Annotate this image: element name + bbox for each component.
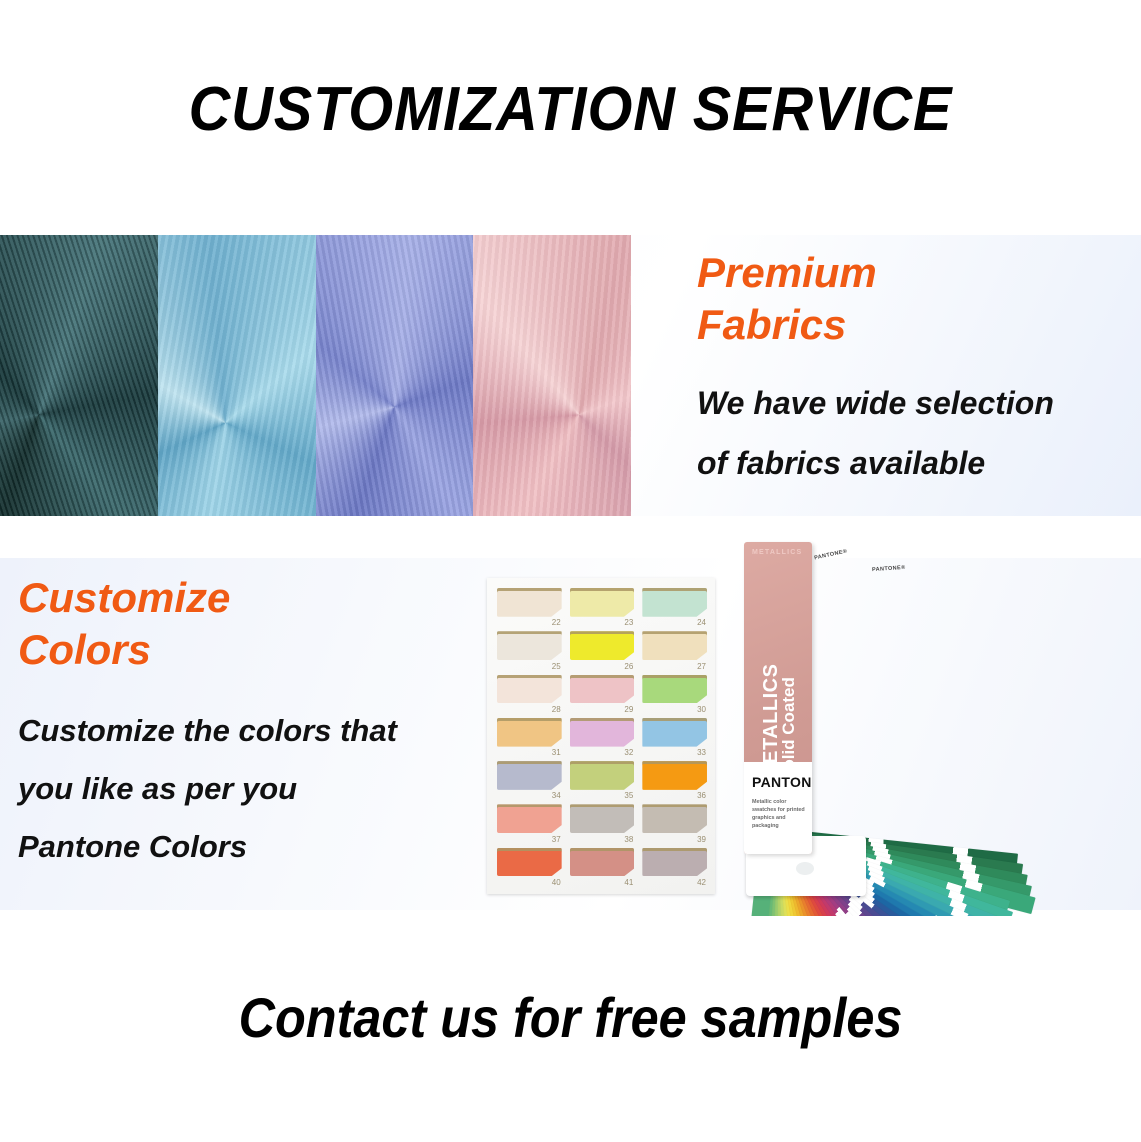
color-swatch-number: 41 <box>624 878 633 887</box>
color-swatch-number: 25 <box>552 662 561 671</box>
fabric-swirl-texture <box>0 235 158 516</box>
pantone-brand-text: PANTONE <box>752 774 812 790</box>
color-swatch-chip <box>570 804 635 833</box>
pantone-brand-logo: PANTONE® <box>752 774 812 790</box>
color-swatch-number: 35 <box>624 791 633 800</box>
color-swatch-40[interactable]: 40 <box>497 848 562 886</box>
pantone-fandeck-cover: METALLICS METALLICS Solid Coated PANTONE… <box>744 542 812 854</box>
color-swatch-number: 29 <box>624 705 633 714</box>
color-swatch-number: 37 <box>552 835 561 844</box>
color-swatch-chip <box>642 631 707 660</box>
premium-fabrics-body: We have wide selection of fabrics availa… <box>697 373 1054 493</box>
color-swatch-chip <box>570 631 635 660</box>
color-swatch-23[interactable]: 23 <box>570 588 635 626</box>
fabric-swirl-texture <box>473 235 631 516</box>
customize-colors-text-block: Customize Colors Customize the colors th… <box>18 572 488 876</box>
color-swatch-number: 23 <box>624 618 633 627</box>
premium-fabrics-text-block: Premium Fabrics We have wide selection o… <box>697 235 1127 516</box>
color-swatch-27[interactable]: 27 <box>642 631 707 669</box>
color-swatch-chip <box>642 848 707 877</box>
color-swatch-chip <box>497 631 562 660</box>
color-swatch-chip <box>570 718 635 747</box>
color-swatch-chip <box>497 718 562 747</box>
color-swatch-31[interactable]: 31 <box>497 718 562 756</box>
customize-colors-heading-line2: Colors <box>18 624 488 676</box>
pantone-page-header-tab: PANTONE® <box>872 565 906 573</box>
fabric-swirl-texture <box>316 235 474 516</box>
color-swatch-29[interactable]: 29 <box>570 675 635 713</box>
premium-fabrics-heading-line1: Premium <box>697 247 877 299</box>
pantone-cover-title-line2: Solid Coated <box>780 561 797 781</box>
color-swatch-chip <box>642 718 707 747</box>
fabric-swirl-texture <box>158 235 316 516</box>
premium-fabrics-heading: Premium Fabrics <box>697 247 877 351</box>
pantone-page-header-tab: PANTONE® <box>814 549 848 562</box>
color-swatch-34[interactable]: 34 <box>497 761 562 799</box>
premium-fabrics-panel: Premium Fabrics We have wide selection o… <box>0 235 1141 516</box>
color-swatch-number: 36 <box>697 791 706 800</box>
color-swatch-42[interactable]: 42 <box>642 848 707 886</box>
color-swatch-30[interactable]: 30 <box>642 675 707 713</box>
pantone-fandeck-pivot-icon <box>796 862 814 875</box>
customize-colors-heading: Customize Colors <box>18 572 488 676</box>
color-swatch-number: 34 <box>552 791 561 800</box>
color-swatch-chip <box>570 675 635 704</box>
fabric-swatch-periwinkle-violet-knit <box>316 235 474 516</box>
color-swatch-number: 28 <box>552 705 561 714</box>
customize-colors-body-line2: you like as per you <box>18 760 488 818</box>
color-swatch-chip <box>497 675 562 704</box>
color-swatch-32[interactable]: 32 <box>570 718 635 756</box>
color-swatch-28[interactable]: 28 <box>497 675 562 713</box>
customize-colors-body-line1: Customize the colors that <box>18 702 488 760</box>
color-swatch-number: 32 <box>624 748 633 757</box>
customize-colors-body-line3: Pantone Colors <box>18 818 488 876</box>
color-swatch-number: 27 <box>697 662 706 671</box>
color-swatch-39[interactable]: 39 <box>642 804 707 842</box>
color-swatch-chip <box>570 848 635 877</box>
color-swatch-37[interactable]: 37 <box>497 804 562 842</box>
color-swatch-36[interactable]: 36 <box>642 761 707 799</box>
fabric-swatch-dark-teal-ribbed-knit <box>0 235 158 516</box>
color-swatch-chip <box>642 804 707 833</box>
color-swatch-25[interactable]: 25 <box>497 631 562 669</box>
color-swatch-33[interactable]: 33 <box>642 718 707 756</box>
page-title: CUSTOMIZATION SERVICE <box>40 74 1101 145</box>
fabric-swatch-light-blue-jersey <box>158 235 316 516</box>
color-swatch-chip <box>497 761 562 790</box>
color-swatch-41[interactable]: 41 <box>570 848 635 886</box>
color-swatch-number: 26 <box>624 662 633 671</box>
color-swatch-chip <box>570 588 635 617</box>
footer-caption: Contact us for free samples <box>57 985 1084 1050</box>
color-swatch-number: 39 <box>697 835 706 844</box>
color-swatch-number: 30 <box>697 705 706 714</box>
color-swatch-number: 24 <box>697 618 706 627</box>
color-swatch-22[interactable]: 22 <box>497 588 562 626</box>
pantone-cover-top-label: METALLICS <box>752 549 802 556</box>
color-swatch-number: 38 <box>624 835 633 844</box>
color-swatch-number: 31 <box>552 748 561 757</box>
color-swatch-number: 40 <box>552 878 561 887</box>
premium-fabrics-body-line2: of fabrics available <box>697 433 1054 493</box>
color-swatch-chip <box>497 848 562 877</box>
color-swatch-chip <box>497 588 562 617</box>
color-swatch-chip <box>642 588 707 617</box>
premium-fabrics-body-line1: We have wide selection <box>697 373 1054 433</box>
color-swatch-35[interactable]: 35 <box>570 761 635 799</box>
pantone-cover-footer: PANTONE® Metallic color swatches for pri… <box>744 762 812 854</box>
color-swatch-card: 2223242526272829303132333435363738394041… <box>487 578 715 894</box>
color-swatch-chip <box>642 675 707 704</box>
pantone-cover-title: METALLICS Solid Coated <box>763 561 797 781</box>
color-swatch-24[interactable]: 24 <box>642 588 707 626</box>
pantone-cover-description: Metallic color swatches for printed grap… <box>752 798 808 830</box>
color-swatch-38[interactable]: 38 <box>570 804 635 842</box>
fabric-image-strip <box>0 235 631 516</box>
color-swatch-chip <box>497 804 562 833</box>
color-swatch-number: 22 <box>552 618 561 627</box>
pantone-cover-title-line1: METALLICS <box>763 561 780 781</box>
color-swatch-chip <box>570 761 635 790</box>
customize-colors-heading-line1: Customize <box>18 572 488 624</box>
color-swatch-26[interactable]: 26 <box>570 631 635 669</box>
color-swatch-number: 42 <box>697 878 706 887</box>
color-swatch-chip <box>642 761 707 790</box>
pantone-fandeck: PANTONE®PANTONE® METALLICS METALLICS Sol… <box>722 536 1141 916</box>
premium-fabrics-heading-line2: Fabrics <box>697 299 877 351</box>
color-swatch-number: 33 <box>697 748 706 757</box>
fabric-swatch-blush-pink-crepe <box>473 235 631 516</box>
customize-colors-body: Customize the colors that you like as pe… <box>18 702 488 876</box>
